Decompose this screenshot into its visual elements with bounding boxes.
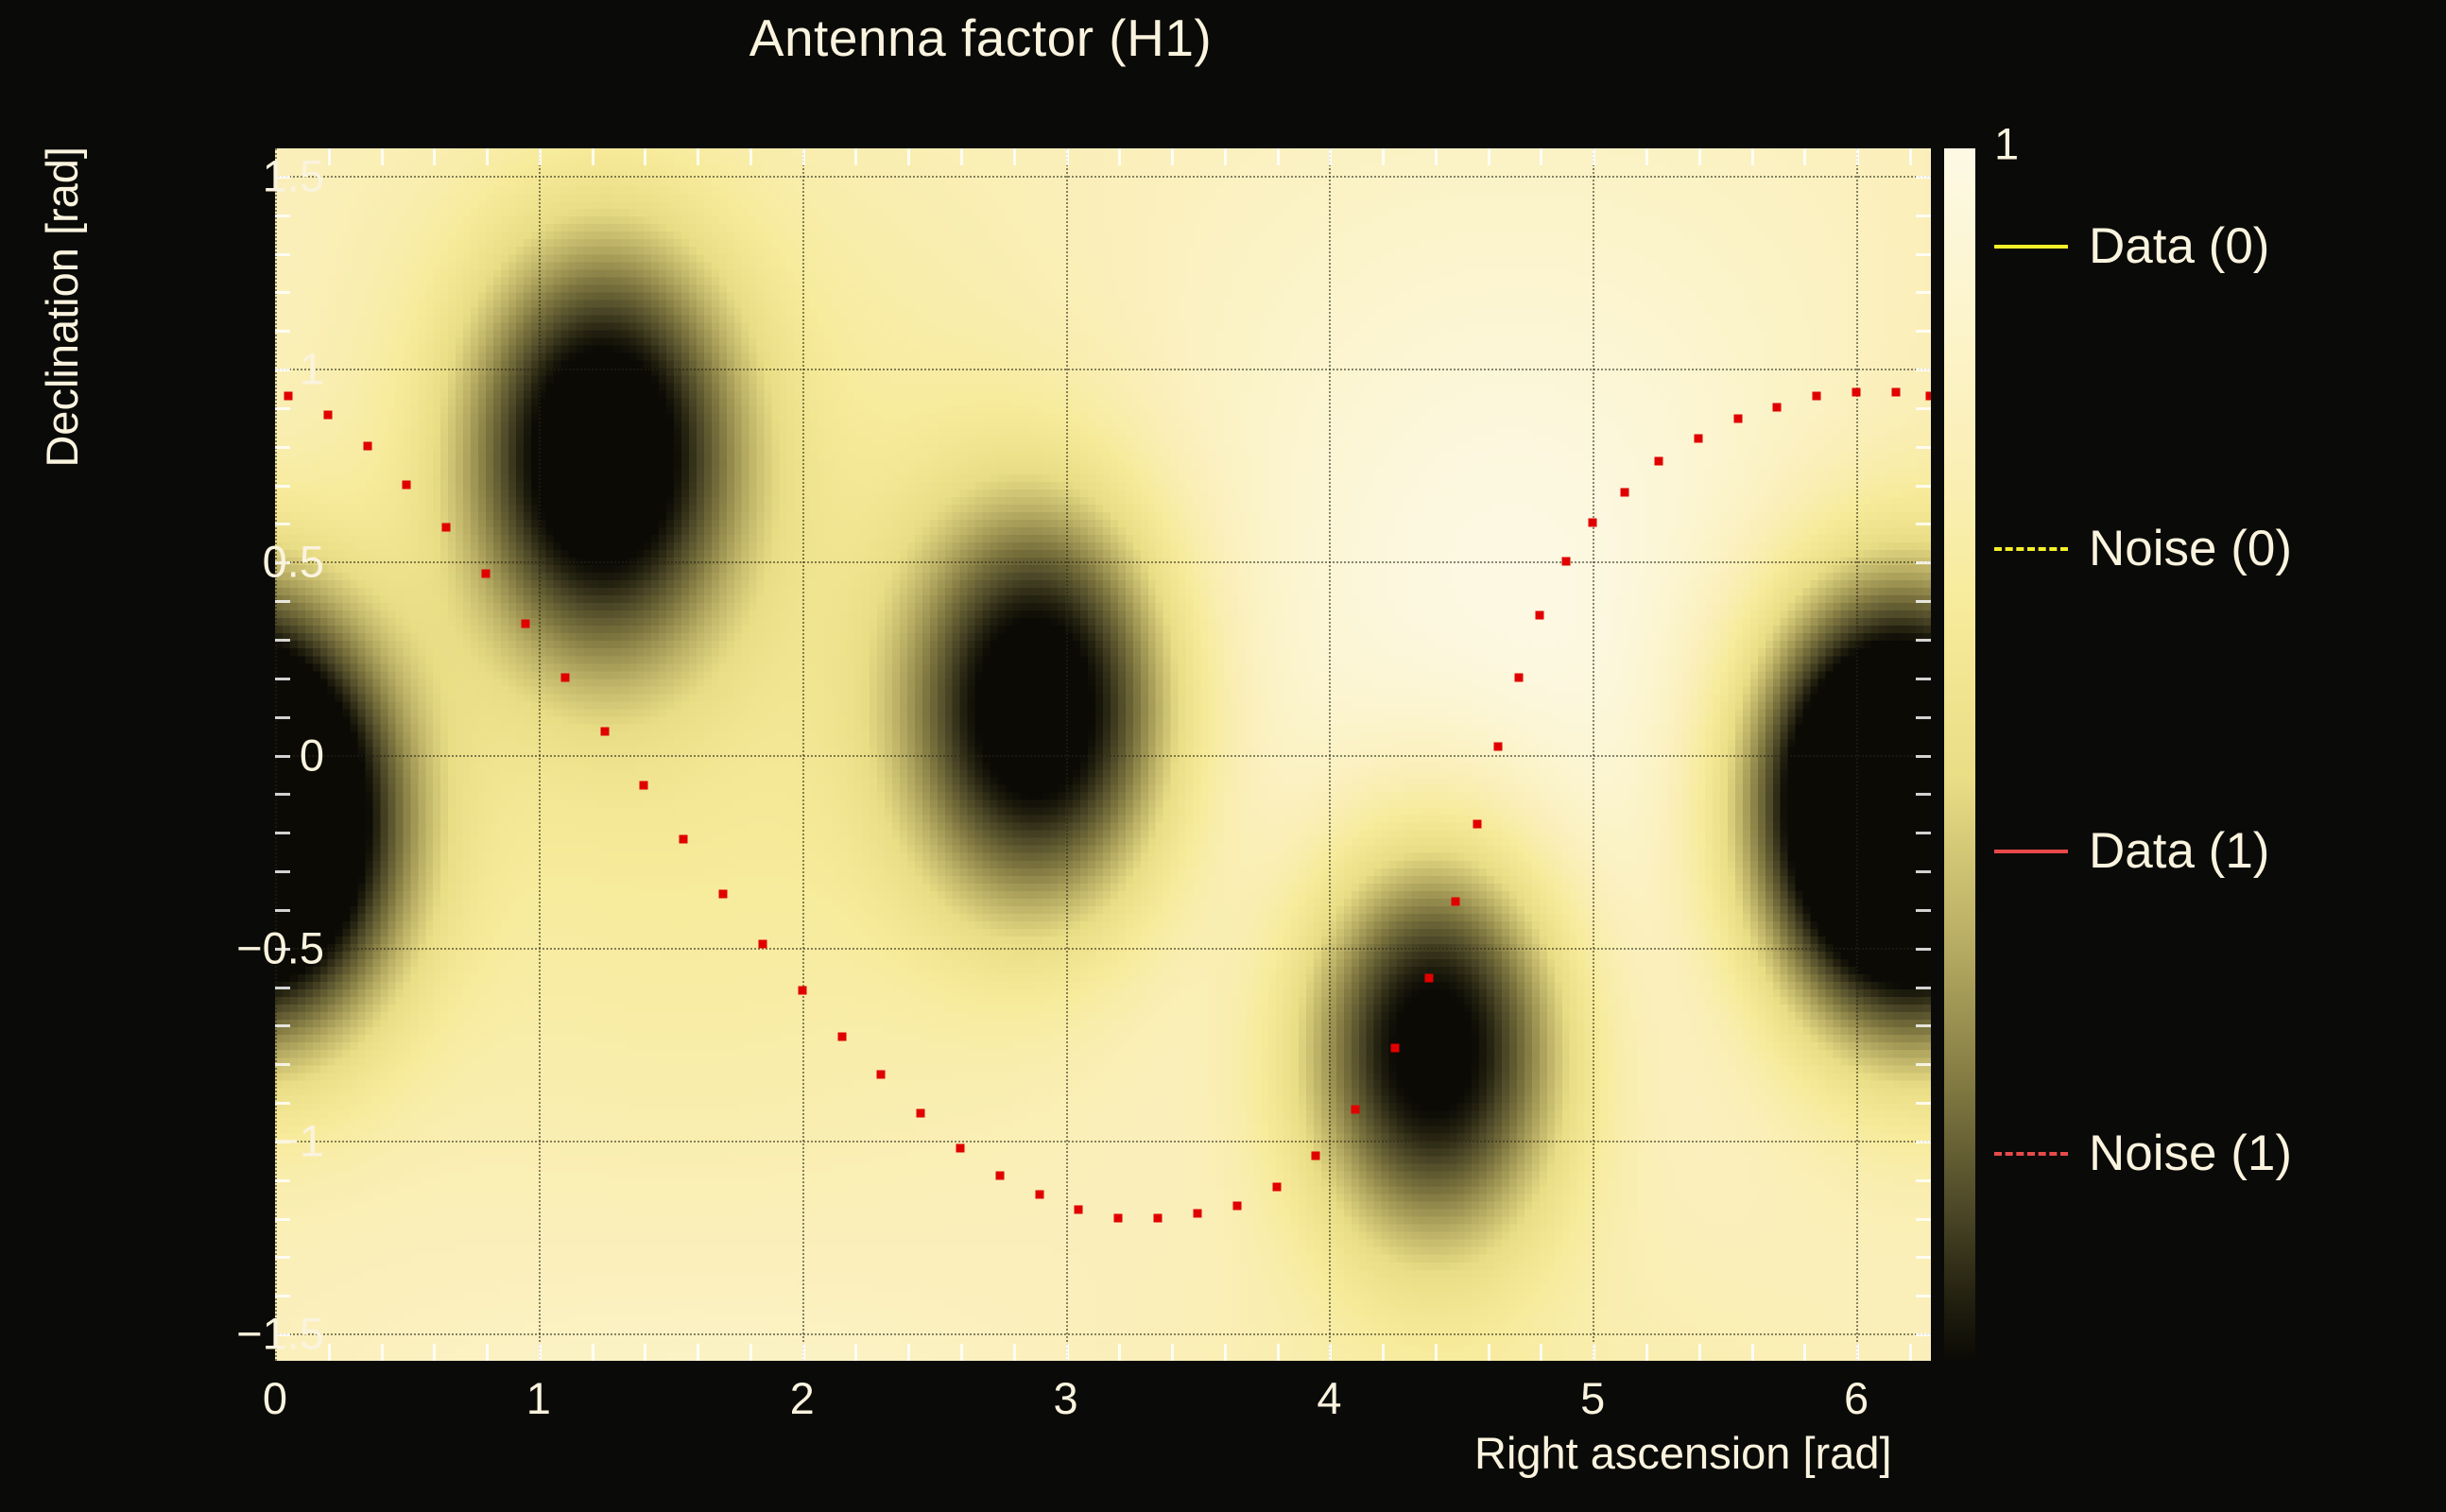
x-axis-tick-label: 2 [790,1372,815,1424]
y-axis-tick-label: 0.5 [263,536,324,588]
x-axis-label: Right ascension [rad] [1474,1427,1892,1479]
y-axis-tick-label: 1.5 [263,149,324,201]
x-axis-tick-label: 1 [526,1372,551,1424]
plot-area[interactable] [275,148,1931,1361]
y-axis-label: Declination [rad] [36,146,88,468]
x-axis-tick-label: 4 [1317,1372,1341,1424]
legend-line-swatch [1994,1152,2068,1156]
legend-line-swatch [1994,850,2068,853]
y-axis-tick-label: −0.5 [236,921,324,973]
legend: Data (0)Noise (0)Data (1)Noise (1) [1994,217,2429,1276]
legend-entry[interactable]: Noise (0) [1994,520,2292,577]
y-axis-tick-label: −1.5 [236,1308,324,1360]
y-axis-tick-label: 1 [300,343,324,395]
plot-page: Antenna factor (H1) 1.510.50−0.5−1−1.5 0… [0,0,2446,1512]
heatmap-image [275,148,1931,1361]
colorbar-tick-label-top: 1 [1994,118,2019,170]
legend-label: Noise (0) [2089,520,2292,577]
colorbar[interactable] [1944,148,1975,1361]
x-axis-tick-label: 6 [1844,1372,1869,1424]
legend-entry[interactable]: Data (0) [1994,217,2269,275]
legend-line-swatch [1994,245,2068,249]
legend-line-swatch [1994,547,2068,551]
legend-label: Noise (1) [2089,1125,2292,1182]
x-axis-tick-label: 0 [263,1372,287,1424]
legend-label: Data (0) [2089,217,2269,275]
x-axis-tick-label: 5 [1580,1372,1605,1424]
y-axis-tick-label: 0 [300,729,324,781]
legend-entry[interactable]: Noise (1) [1994,1125,2292,1182]
y-axis-tick-label: −1 [273,1114,324,1166]
legend-entry[interactable]: Data (1) [1994,822,2269,880]
x-axis-tick-label: 3 [1053,1372,1077,1424]
page-title: Antenna factor (H1) [0,8,1961,68]
legend-label: Data (1) [2089,822,2269,880]
